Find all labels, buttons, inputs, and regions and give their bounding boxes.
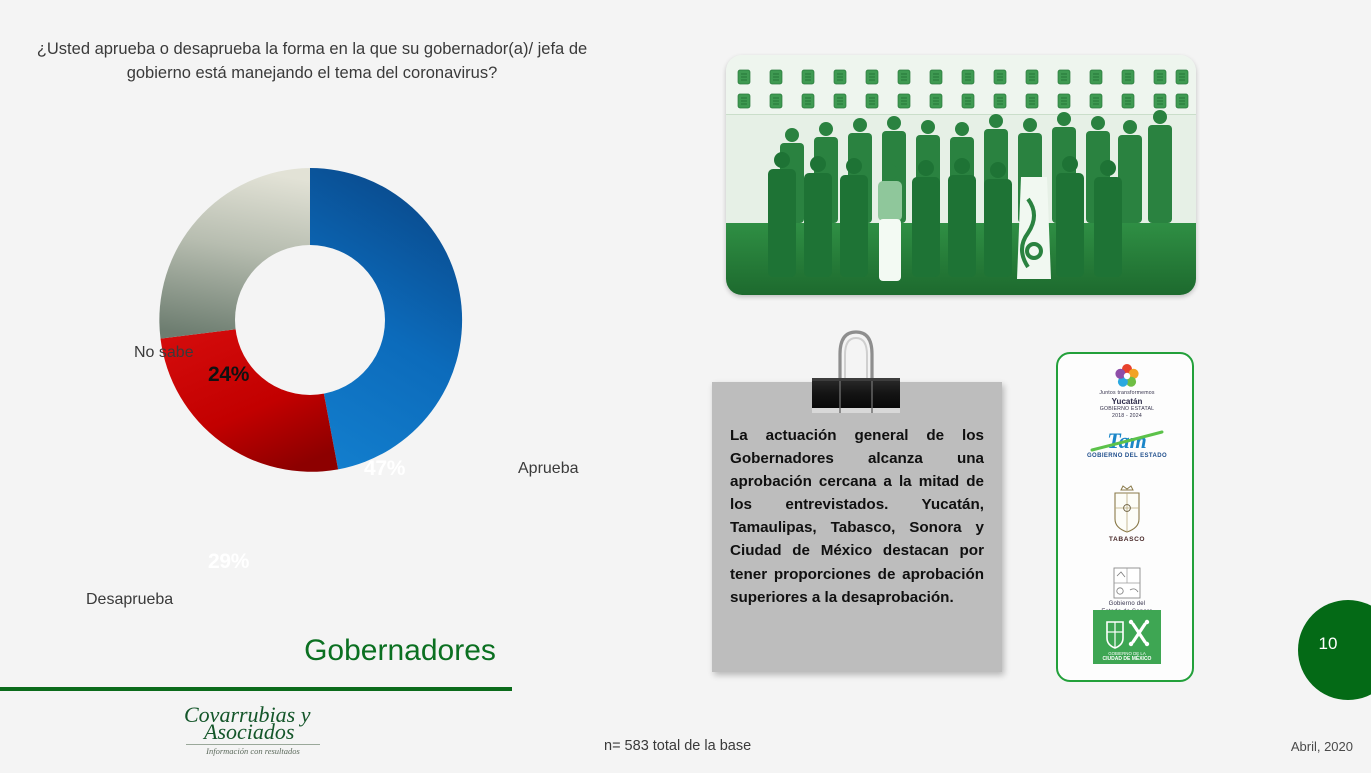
donut-chart: 47% Aprueba 29% Desaprueba 24% No sabe xyxy=(60,150,600,510)
page-title: ¿Usted aprueba o desaprueba la forma en … xyxy=(22,38,602,86)
logo-yucatan: Juntos transformemos Yucatán GOBIERNO ES… xyxy=(1058,364,1196,420)
donut-label-nosabe: No sabe xyxy=(134,344,194,362)
section-heading: Gobernadores xyxy=(260,634,540,668)
governors-photo xyxy=(726,55,1196,295)
governors-photo-svg xyxy=(726,55,1196,295)
tabasco-crest-icon xyxy=(1107,484,1147,536)
yucatan-pinwheel-icon xyxy=(1110,364,1144,390)
donut-label-aprueba: Aprueba xyxy=(518,460,579,478)
yucatan-caption-sub: GOBIERNO ESTATAL xyxy=(1058,406,1196,413)
brand-logo-tagline: Información con resultados xyxy=(178,746,328,756)
base-note: n= 583 total de la base xyxy=(604,738,751,754)
donut-graphic xyxy=(150,160,470,480)
date-note: Abril, 2020 xyxy=(1291,739,1353,754)
tamaulipas-caption-sub: GOBIERNO DEL ESTADO xyxy=(1087,453,1167,459)
logo-cdmx: GOBIERNO DE LA CIUDAD DE MÉXICO xyxy=(1058,610,1196,664)
donut-center-hole xyxy=(235,245,385,395)
insight-box: La actuación general de los Gobernadores… xyxy=(712,382,1002,672)
logo-tamaulipas: Tam GOBIERNO DEL ESTADO xyxy=(1058,426,1196,460)
state-logos-panel: Juntos transformemos Yucatán GOBIERNO ES… xyxy=(1056,352,1194,682)
yucatan-caption-years: 2018 - 2024 xyxy=(1058,413,1196,420)
yucatan-caption-small: Juntos transformemos xyxy=(1058,390,1196,397)
divider-rule xyxy=(0,687,512,691)
page-number: 10 xyxy=(1298,634,1358,654)
photo-person-dress xyxy=(1017,160,1051,279)
brand-logo-divider xyxy=(186,744,320,745)
cdmx-logo-icon: GOBIERNO DE LA CIUDAD DE MÉXICO xyxy=(1093,610,1161,664)
logo-sonora: Gobierno del Estado de Sonora xyxy=(1058,566,1196,616)
sonora-caption-small: Gobierno del xyxy=(1058,600,1196,608)
donut-value-desaprueba: 29% xyxy=(208,550,249,574)
donut-value-aprueba: 47% xyxy=(364,457,405,481)
brand-logo: Covarrubias y Asociados Información con … xyxy=(178,702,328,762)
binder-clip-icon xyxy=(800,320,912,420)
logo-tabasco: TABASCO xyxy=(1058,484,1196,543)
binder-clip-svg xyxy=(800,320,912,420)
insight-text: La actuación general de los Gobernadores… xyxy=(730,424,984,609)
sonora-crest-icon xyxy=(1110,566,1144,600)
tamaulipas-tam-icon: Tam GOBIERNO DEL ESTADO xyxy=(1084,426,1170,460)
brand-logo-line2: Asociados xyxy=(204,719,294,745)
slide-canvas: ¿Usted aprueba o desaprueba la forma en … xyxy=(0,0,1371,773)
cdmx-caption-sub: CIUDAD DE MÉXICO xyxy=(1103,654,1152,662)
donut-label-desaprueba: Desaprueba xyxy=(86,591,173,609)
tabasco-caption-strong: TABASCO xyxy=(1058,536,1196,543)
page-number-bubble: 10 xyxy=(1298,600,1371,700)
photo-person-light xyxy=(878,164,902,281)
donut-value-nosabe: 24% xyxy=(208,363,249,387)
yucatan-caption-strong: Yucatán xyxy=(1058,397,1196,406)
